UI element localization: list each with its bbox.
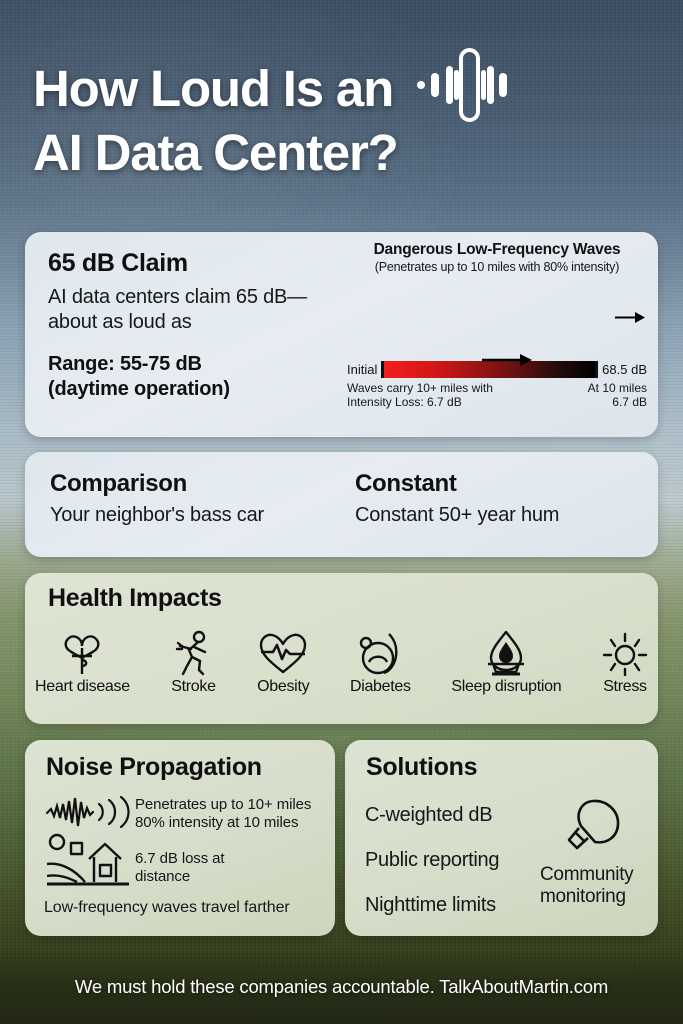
heart-disease-icon (56, 628, 108, 676)
propagation-text-2: 6.7 dB loss at distance (135, 850, 285, 887)
sound-waves-icon (45, 796, 131, 833)
infographic-page: How Loud Is an (0, 0, 683, 1024)
house-landscape-icon (45, 832, 131, 895)
health-impacts-card: Health Impacts Heart disease (25, 573, 658, 724)
sound-wave-icon (415, 48, 511, 127)
claim-card-left: 65 dB Claim AI data centers claim 65 dB—… (48, 250, 348, 403)
claim-range-line-1: Range: 55-75 dB (48, 352, 348, 378)
stroke-running-person-icon (170, 628, 216, 676)
caption-right-line-2: 6.7 dB (588, 395, 647, 409)
health-label: Sleep disruption (451, 678, 561, 696)
health-item-stroke: Stroke (170, 628, 216, 696)
caption-right: At 10 miles 6.7 dB (588, 381, 647, 410)
propagation-text-2-line-2: distance (135, 868, 285, 886)
waveform-captions: Waves carry 10+ miles with Intensity Los… (347, 381, 647, 410)
solutions-card: Solutions C-weighted dB Public reporting… (345, 740, 658, 936)
page-title-line-2: AI Data Center? (33, 127, 663, 179)
solutions-icon-caption: Community monitoring (540, 864, 655, 908)
caption-right-line-1: At 10 miles (588, 381, 647, 395)
constant-body: Constant 50+ year hum (355, 503, 559, 529)
caption-left: Waves carry 10+ miles with Intensity Los… (347, 381, 493, 410)
page-title-line-1: How Loud Is an (33, 63, 393, 115)
waveform-panel: Dangerous Low-Frequency Waves (Penetrate… (347, 241, 647, 410)
diabetes-icon (356, 628, 404, 676)
claim-heading: 65 dB Claim (48, 250, 348, 278)
solutions-caption-line-2: monitoring (540, 886, 655, 908)
footer-text: We must hold these companies accountable… (0, 976, 683, 998)
caption-left-line-1: Waves carry 10+ miles with (347, 381, 493, 395)
health-impacts-heading: Health Impacts (48, 585, 222, 613)
propagation-text-2-line-1: 6.7 dB loss at (135, 850, 285, 868)
health-item-heart-disease: Heart disease (35, 628, 130, 696)
solutions-list-item: C-weighted dB (365, 804, 499, 827)
constant-heading: Constant (355, 470, 559, 498)
claim-card: 65 dB Claim AI data centers claim 65 dB—… (25, 232, 658, 437)
caption-left-line-2: Intensity Loss: 6.7 dB (347, 395, 493, 409)
health-impacts-icon-row: Heart disease Stroke (35, 628, 648, 696)
constant-column: Constant Constant 50+ year hum (355, 470, 559, 529)
solutions-list-item: Public reporting (365, 849, 499, 872)
claim-body: AI data centers claim 65 dB—about as lou… (48, 285, 348, 336)
propagation-text-1-line-2: 80% intensity at 10 miles (135, 814, 330, 832)
health-label: Stress (603, 678, 647, 696)
health-item-sleep-disruption: Sleep disruption (451, 628, 561, 696)
health-label: Stroke (171, 678, 215, 696)
comparison-body: Your neighbor's bass car (50, 503, 264, 529)
health-label: Heart disease (35, 678, 130, 696)
title-row-1: How Loud Is an (33, 52, 663, 127)
comparison-column: Comparison Your neighbor's bass car (50, 470, 264, 529)
health-item-diabetes: Diabetes (350, 628, 411, 696)
health-label: Obesity (257, 678, 309, 696)
waveform-title: Dangerous Low-Frequency Waves (347, 241, 647, 259)
claim-range: Range: 55-75 dB (daytime operation) (48, 352, 348, 403)
health-item-obesity: Obesity (257, 628, 309, 696)
claim-range-line-2: (daytime operation) (48, 377, 348, 403)
heart-pulse-icon (257, 628, 309, 676)
solutions-list-item: Nighttime limits (365, 894, 499, 917)
propagation-text-1-line-1: Penetrates up to 10+ miles (135, 796, 330, 814)
propagation-text-3: Low-frequency waves travel farther (44, 898, 290, 918)
microphone-monitor-icon (557, 798, 625, 865)
gradient-left-label: Initial (347, 362, 377, 377)
sun-stress-icon (602, 628, 648, 676)
gradient-right-label: 68.5 dB (602, 362, 647, 377)
solutions-heading: Solutions (366, 754, 477, 782)
solutions-caption-line-1: Community (540, 864, 655, 886)
solutions-list: C-weighted dB Public reporting Nighttime… (365, 804, 499, 939)
health-item-stress: Stress (602, 628, 648, 696)
waveform-chart (347, 274, 647, 357)
comparison-heading: Comparison (50, 470, 264, 498)
waveform-shift-arrow-icon (482, 353, 534, 372)
noise-propagation-heading: Noise Propagation (46, 754, 262, 782)
header: How Loud Is an (33, 52, 663, 179)
comparison-card: Comparison Your neighbor's bass car Cons… (25, 452, 658, 557)
waveform-subtitle: (Penetrates up to 10 miles with 80% inte… (347, 260, 647, 274)
noise-propagation-card: Noise Propagation Penetrates u (25, 740, 335, 936)
propagation-text-1: Penetrates up to 10+ miles 80% intensity… (135, 796, 330, 833)
health-label: Diabetes (350, 678, 411, 696)
sleep-droplet-icon (482, 628, 530, 676)
